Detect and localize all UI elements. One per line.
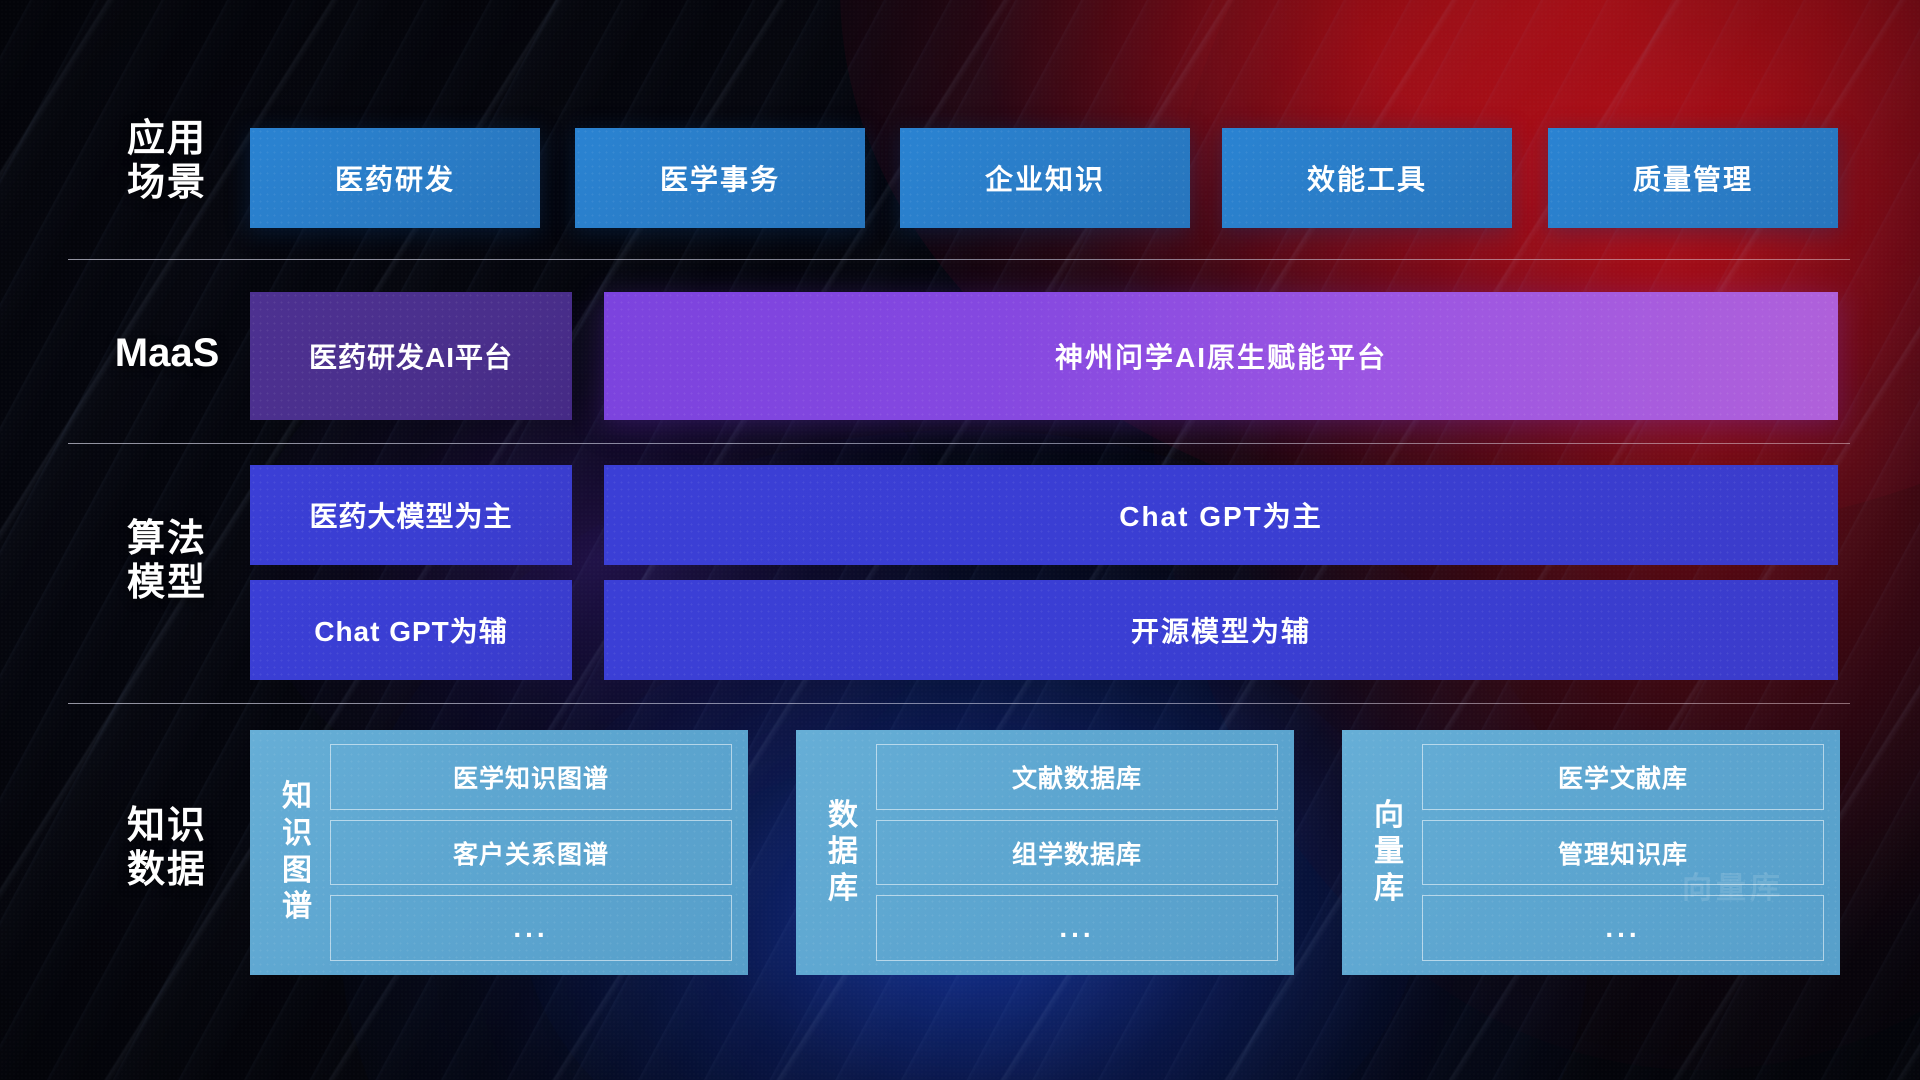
row-label-algorithm: 算法 模型: [82, 518, 252, 605]
row-label-knowledge: 知识 数据: [82, 805, 252, 892]
app-box-medical-affairs[interactable]: 医学事务: [575, 128, 865, 228]
knowledge-group-vector-store[interactable]: 向 量 库 医学文献库 管理知识库 ... 向量库: [1342, 730, 1840, 975]
knowledge-group-graph[interactable]: 知 识 图 谱 医学知识图谱 客户关系图谱 ...: [250, 730, 748, 975]
vertical-label-char: 图: [282, 853, 312, 890]
app-box-label: 质量管理: [1633, 158, 1753, 198]
knowledge-item-more[interactable]: ...: [876, 895, 1278, 961]
row-label-line: 模型: [82, 562, 252, 606]
knowledge-item-list: 医学知识图谱 客户关系图谱 ...: [330, 744, 732, 961]
knowledge-item-list: 文献数据库 组学数据库 ...: [876, 744, 1278, 961]
row-label-line: 数据: [82, 849, 252, 893]
knowledge-group-database[interactable]: 数 据 库 文献数据库 组学数据库 ...: [796, 730, 1294, 975]
knowledge-item-list: 医学文献库 管理知识库 ...: [1422, 744, 1824, 961]
knowledge-item[interactable]: 医学知识图谱: [330, 744, 732, 810]
knowledge-item[interactable]: 管理知识库: [1422, 820, 1824, 886]
maas-box-label: 神州问学AI原生赋能平台: [1055, 336, 1387, 376]
app-box-label: 效能工具: [1307, 158, 1427, 198]
architecture-diagram: 应用 场景 医药研发 医学事务 企业知识 效能工具 质量管理 MaaS 医药研发…: [0, 0, 1920, 1080]
app-box-label: 医学事务: [660, 158, 780, 198]
app-box-label: 医药研发: [335, 158, 455, 198]
maas-box-label: 医药研发AI平台: [309, 336, 513, 376]
row-label-maas: MaaS: [82, 330, 252, 376]
row-label-application: 应用 场景: [82, 118, 252, 205]
divider-maas-algorithm: [68, 443, 1850, 444]
divider-application-maas: [68, 259, 1850, 260]
algorithm-box-label: 开源模型为辅: [1131, 610, 1311, 650]
vertical-label-char: 向: [1374, 798, 1404, 835]
vertical-label-char: 谱: [282, 889, 312, 926]
vertical-label-char: 识: [282, 816, 312, 853]
vertical-label-char: 数: [828, 798, 858, 835]
maas-box-shenzhou-wenxue-platform[interactable]: 神州问学AI原生赋能平台: [604, 292, 1838, 420]
algorithm-box-label: 医药大模型为主: [309, 495, 512, 535]
vertical-label-char: 据: [828, 834, 858, 871]
divider-algorithm-knowledge: [68, 703, 1850, 704]
algorithm-box-chatgpt-primary[interactable]: Chat GPT为主: [604, 465, 1838, 565]
knowledge-group-vertical-label: 知 识 图 谱: [264, 779, 330, 925]
algorithm-box-pharma-llm-primary[interactable]: 医药大模型为主: [250, 465, 572, 565]
vertical-label-char: 库: [828, 871, 858, 908]
app-box-quality-management[interactable]: 质量管理: [1548, 128, 1838, 228]
knowledge-item[interactable]: 文献数据库: [876, 744, 1278, 810]
app-box-medicine-rd[interactable]: 医药研发: [250, 128, 540, 228]
row-label-line: 场景: [82, 162, 252, 206]
knowledge-item-more[interactable]: ...: [1422, 895, 1824, 961]
vertical-label-char: 量: [1374, 834, 1404, 871]
algorithm-box-label: Chat GPT为主: [1119, 495, 1323, 535]
algorithm-box-label: Chat GPT为辅: [314, 610, 508, 650]
algorithm-box-chatgpt-secondary[interactable]: Chat GPT为辅: [250, 580, 572, 680]
app-box-label: 企业知识: [985, 158, 1105, 198]
app-box-enterprise-knowledge[interactable]: 企业知识: [900, 128, 1190, 228]
algorithm-box-opensource-secondary[interactable]: 开源模型为辅: [604, 580, 1838, 680]
knowledge-item[interactable]: 组学数据库: [876, 820, 1278, 886]
knowledge-item[interactable]: 医学文献库: [1422, 744, 1824, 810]
knowledge-item-more[interactable]: ...: [330, 895, 732, 961]
row-label-line: 算法: [82, 518, 252, 562]
row-label-line: 应用: [82, 118, 252, 162]
vertical-label-char: 知: [282, 779, 312, 816]
maas-box-pharma-ai-platform[interactable]: 医药研发AI平台: [250, 292, 572, 420]
row-label-line: 知识: [82, 805, 252, 849]
knowledge-group-vertical-label: 数 据 库: [810, 798, 876, 908]
vertical-label-char: 库: [1374, 871, 1404, 908]
row-label-line: MaaS: [82, 330, 252, 376]
app-box-efficiency-tools[interactable]: 效能工具: [1222, 128, 1512, 228]
knowledge-group-vertical-label: 向 量 库: [1356, 798, 1422, 908]
knowledge-item[interactable]: 客户关系图谱: [330, 820, 732, 886]
